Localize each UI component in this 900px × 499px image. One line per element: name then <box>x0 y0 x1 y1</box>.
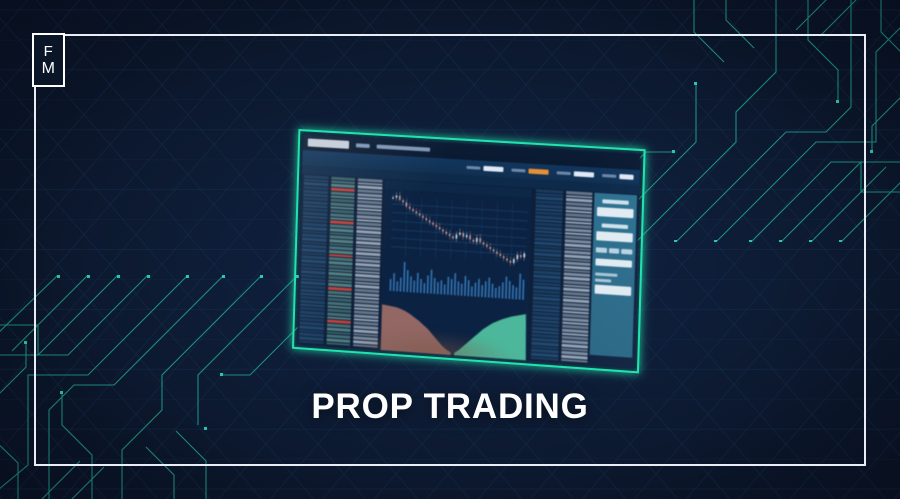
terminal-logo <box>308 138 349 148</box>
candlestick-chart <box>381 189 532 306</box>
panel-note <box>595 272 617 276</box>
order-book-row <box>531 356 558 361</box>
terminal-screen <box>297 134 640 368</box>
logo-letter-f: F <box>44 44 54 59</box>
panel-note <box>595 278 611 282</box>
ticker-item <box>557 170 595 177</box>
order-book-left <box>299 175 383 348</box>
panel-button-row[interactable] <box>596 247 633 254</box>
order-book-row <box>561 358 588 363</box>
order-book-right <box>531 189 593 363</box>
panel-title <box>602 199 628 205</box>
ticker-item <box>466 165 503 172</box>
panel-input[interactable] <box>596 231 633 242</box>
ticker-item <box>602 173 634 180</box>
order-entry-panel <box>590 193 637 358</box>
page-title: PROP TRADING <box>0 387 900 427</box>
terminal-menu-item <box>377 145 431 152</box>
order-book-row <box>299 340 323 344</box>
panel-input[interactable] <box>595 285 632 297</box>
banner-canvas: F M <box>0 0 900 499</box>
panel-subtitle <box>602 223 628 229</box>
order-book-row <box>326 342 350 346</box>
panel-input[interactable] <box>597 207 634 218</box>
terminal-menu-item <box>356 143 370 148</box>
ticker-item <box>511 168 548 175</box>
logo-letter-m: M <box>42 61 56 77</box>
panel-input[interactable] <box>595 258 632 267</box>
trading-terminal-image <box>292 137 642 363</box>
fm-logo: F M <box>32 33 65 87</box>
